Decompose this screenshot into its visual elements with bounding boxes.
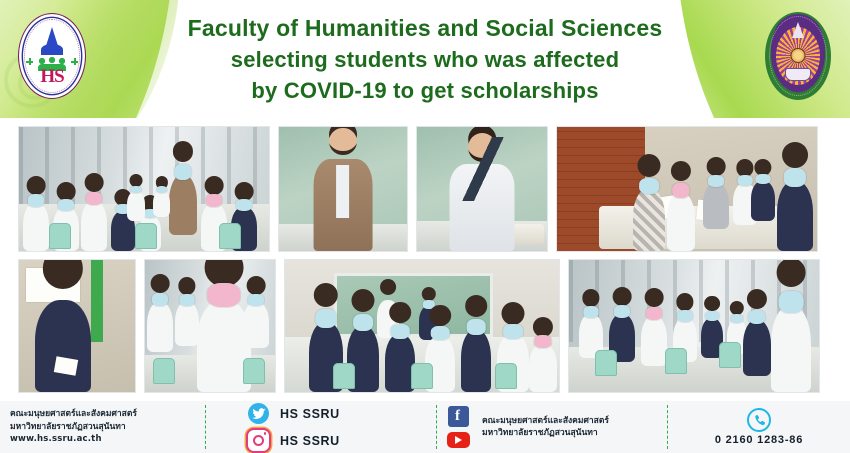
- footer-contact-block: คณะมนุษยศาสตร์และสังคมศาสตร์ มหาวิทยาลัย…: [0, 401, 205, 453]
- footer-phone-block: 0 2160 1283-86: [668, 401, 850, 453]
- footer-social-block-right: f คณะมนุษยศาสตร์และสังคมศาสตร์ มหาวิทยาล…: [437, 401, 667, 453]
- logo-hs-monogram: HS: [19, 67, 85, 86]
- logo-cross-left-icon: [26, 58, 33, 65]
- footer-social-block-left: HS SSRU HS SSRU: [206, 401, 436, 453]
- instagram-handle-label: HS SSRU: [280, 434, 340, 448]
- gallery-row-top: [18, 126, 832, 252]
- instagram-icon[interactable]: [248, 430, 269, 451]
- photo-corridor-students[interactable]: [18, 126, 270, 252]
- photo-gallery: [0, 118, 850, 401]
- ssru-university-seal: [765, 12, 831, 100]
- footer-university-name-th: มหาวิทยาลัยราชภัฏสวนสุนันทา: [10, 421, 137, 434]
- logo-cross-right-icon: [71, 58, 78, 65]
- page-title-line-1: Faculty of Humanities and Social Science…: [120, 13, 730, 44]
- seal-pedestal-icon: [785, 68, 811, 81]
- photo-staff-clapping[interactable]: [18, 259, 136, 393]
- twitter-icon[interactable]: [248, 403, 269, 424]
- facebook-page-name-line-1: คณะมนุษยศาสตร์และสังคมศาสตร์: [482, 415, 609, 428]
- logo-spire-base-icon: [41, 44, 63, 55]
- facebook-icon[interactable]: f: [448, 406, 469, 427]
- phone-number-label: 0 2160 1283-86: [715, 434, 803, 446]
- photo-man-with-sling-bag[interactable]: [416, 126, 548, 252]
- banner-header: HS Faculty of Humanities and Social Scie…: [0, 0, 850, 118]
- twitter-account-row[interactable]: HS SSRU: [248, 403, 340, 424]
- photo-man-in-suit[interactable]: [278, 126, 408, 252]
- photo-corridor-queue[interactable]: [568, 259, 820, 393]
- banner-footer: คณะมนุษยศาสตร์และสังคมศาสตร์ มหาวิทยาลัย…: [0, 401, 850, 453]
- photo-staff-reviewing-documents[interactable]: [556, 126, 818, 252]
- footer-faculty-name-th: คณะมนุษยศาสตร์และสังคมศาสตร์: [10, 408, 137, 421]
- hs-faculty-logo: HS: [18, 13, 86, 99]
- instagram-account-row[interactable]: HS SSRU: [248, 430, 340, 451]
- page-title-line-2: selecting students who was affected: [120, 44, 730, 75]
- phone-icon[interactable]: [747, 408, 771, 432]
- seal-crown-icon: [792, 22, 804, 38]
- page-title-line-3: by COVID-19 to get scholarships: [120, 75, 730, 106]
- facebook-page-name-line-2: มหาวิทยาลัยราชภัฏสวนสุนันทา: [482, 427, 609, 440]
- ssru-event-banner: HS Faculty of Humanities and Social Scie…: [0, 0, 850, 453]
- photo-student-pink-mask[interactable]: [144, 259, 276, 393]
- banner-title-block: Faculty of Humanities and Social Science…: [120, 13, 730, 106]
- footer-website-link[interactable]: www.hs.ssru.ac.th: [10, 433, 137, 446]
- gallery-row-bottom: [18, 259, 832, 393]
- photo-classroom-briefing[interactable]: [284, 259, 560, 393]
- twitter-handle-label: HS SSRU: [280, 407, 340, 421]
- youtube-icon[interactable]: [447, 432, 470, 448]
- seal-orb-icon: [791, 48, 806, 63]
